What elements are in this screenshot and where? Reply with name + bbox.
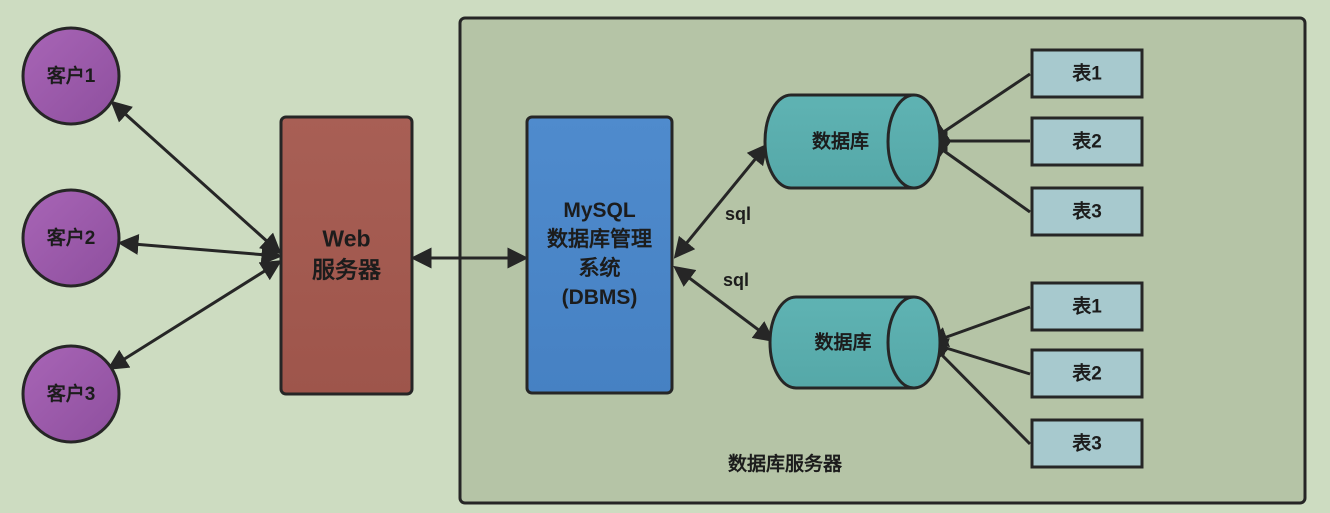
sql-edge-label-2: sql <box>723 270 749 290</box>
table-node-4[interactable]: 表1 <box>1032 283 1142 330</box>
table-node-6[interactable]: 表3 <box>1032 420 1142 467</box>
table-node-1[interactable]: 表1 <box>1032 50 1142 97</box>
table-node-2[interactable]: 表2 <box>1032 118 1142 165</box>
web-server-box[interactable] <box>281 117 412 394</box>
database-label-1: 数据库 <box>812 130 869 153</box>
clients-group: 客户1客户2客户3 <box>23 28 119 442</box>
mysql-dbms-node[interactable]: MySQL数据库管理系统(DBMS) <box>527 117 672 393</box>
mysql-dbms-box[interactable] <box>527 117 672 393</box>
web-server-label-line1: Web <box>322 226 370 252</box>
mysql-dbms-label-line2: 数据库管理 <box>547 227 652 251</box>
database-node-2[interactable]: 数据库 <box>770 297 940 388</box>
table-label-1: 表1 <box>1072 62 1102 85</box>
database-node-1[interactable]: 数据库 <box>765 95 940 188</box>
mysql-dbms-label-line4: (DBMS) <box>562 286 638 309</box>
database-label-2: 数据库 <box>814 331 871 354</box>
client-label-3: 客户3 <box>47 382 96 405</box>
client-node-1[interactable]: 客户1 <box>23 28 119 124</box>
table-label-6: 表3 <box>1072 432 1102 455</box>
web-server-label-line2: 服务器 <box>312 257 382 283</box>
diagram-canvas: 数据库服务器 sqlsql 客户1客户2 <box>0 0 1330 513</box>
client-node-3[interactable]: 客户3 <box>23 346 119 442</box>
sql-edge-label-1: sql <box>725 204 751 224</box>
table-label-3: 表3 <box>1072 200 1102 223</box>
architecture-diagram: 数据库服务器 sqlsql 客户1客户2 <box>0 0 1330 513</box>
database-server-zone-label: 数据库服务器 <box>728 452 843 475</box>
mysql-dbms-label-line1: MySQL <box>563 199 636 222</box>
table-label-4: 表1 <box>1072 295 1102 318</box>
table-node-5[interactable]: 表2 <box>1032 350 1142 397</box>
client-label-1: 客户1 <box>47 64 96 87</box>
table-label-5: 表2 <box>1072 362 1102 385</box>
client-label-2: 客户2 <box>47 226 96 249</box>
mysql-dbms-label-line3: 系统 <box>579 256 621 280</box>
table-node-3[interactable]: 表3 <box>1032 188 1142 235</box>
web-server-node[interactable]: Web 服务器 <box>281 117 412 394</box>
table-label-2: 表2 <box>1072 130 1102 153</box>
client-node-2[interactable]: 客户2 <box>23 190 119 286</box>
